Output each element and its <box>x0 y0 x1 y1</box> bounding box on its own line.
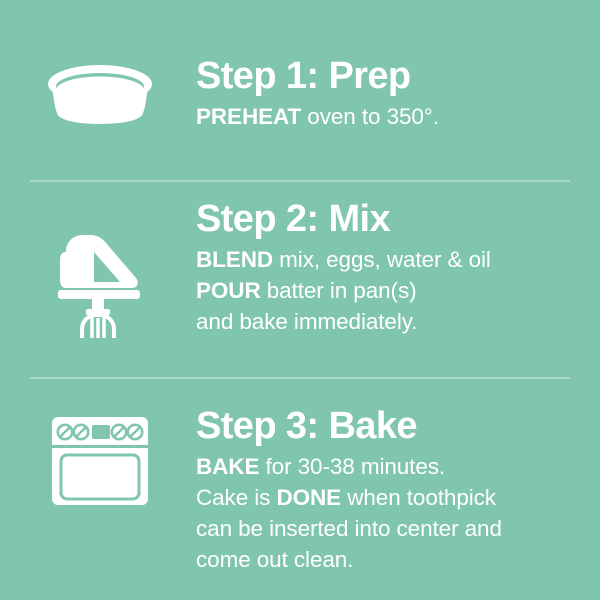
step-2-rest-2: batter in pan(s) <box>261 278 417 303</box>
step-1-text: Step 1: Prep PREHEAT oven to 350°. <box>196 55 596 132</box>
step-3-rest-5: come out clean. <box>196 547 353 572</box>
recipe-steps-card: Step 1: Prep PREHEAT oven to 350°. <box>0 0 600 600</box>
divider-1 <box>30 180 570 182</box>
step-2-text: Step 2: Mix BLEND mix, eggs, water & oil… <box>196 198 596 337</box>
step-3-lead-1: BAKE <box>196 454 259 479</box>
step-2-lead-1: BLEND <box>196 247 273 272</box>
cake-pan-icon-wrapper <box>30 63 170 125</box>
step-3-line-2: Cake is DONE when toothpick <box>196 482 596 513</box>
step-3-body: BAKE for 30-38 minutes. Cake is DONE whe… <box>196 451 596 575</box>
cake-pan-icon <box>44 63 156 125</box>
step-3-line-3: can be inserted into center and <box>196 513 596 544</box>
step-1-lead-1: PREHEAT <box>196 104 301 129</box>
step-3-rest-1: for 30-38 minutes. <box>259 454 445 479</box>
step-2-rest-3: and bake immediately. <box>196 309 417 334</box>
step-2-title: Step 2: Mix <box>196 198 596 240</box>
step-2-lead-2: POUR <box>196 278 261 303</box>
step-1-rest-1: oven to 350°. <box>301 104 439 129</box>
step-3-rest-2: Cake is <box>196 485 276 510</box>
oven-icon-wrapper <box>30 417 170 505</box>
step-3-text: Step 3: Bake BAKE for 30-38 minutes. Cak… <box>196 405 596 575</box>
step-2-line-1: BLEND mix, eggs, water & oil <box>196 244 596 275</box>
step-2-body: BLEND mix, eggs, water & oil POUR batter… <box>196 244 596 337</box>
step-3-line-4: come out clean. <box>196 544 596 575</box>
step-2-line-2: POUR batter in pan(s) <box>196 275 596 306</box>
step-1-line-1: PREHEAT oven to 350°. <box>196 101 596 132</box>
step-3-rest-3: when toothpick <box>341 485 496 510</box>
divider-2 <box>30 377 570 379</box>
step-2-line-3: and bake immediately. <box>196 306 596 337</box>
step-3-line-1: BAKE for 30-38 minutes. <box>196 451 596 482</box>
hand-mixer-icon-wrapper <box>30 230 170 338</box>
step-3-title: Step 3: Bake <box>196 405 596 447</box>
step-3-lead-3: DONE <box>276 485 341 510</box>
hand-mixer-icon <box>50 230 150 338</box>
oven-icon <box>52 417 148 505</box>
step-1-body: PREHEAT oven to 350°. <box>196 101 596 132</box>
step-2-rest-1: mix, eggs, water & oil <box>273 247 491 272</box>
step-1-title: Step 1: Prep <box>196 55 596 97</box>
step-3-rest-4: can be inserted into center and <box>196 516 502 541</box>
